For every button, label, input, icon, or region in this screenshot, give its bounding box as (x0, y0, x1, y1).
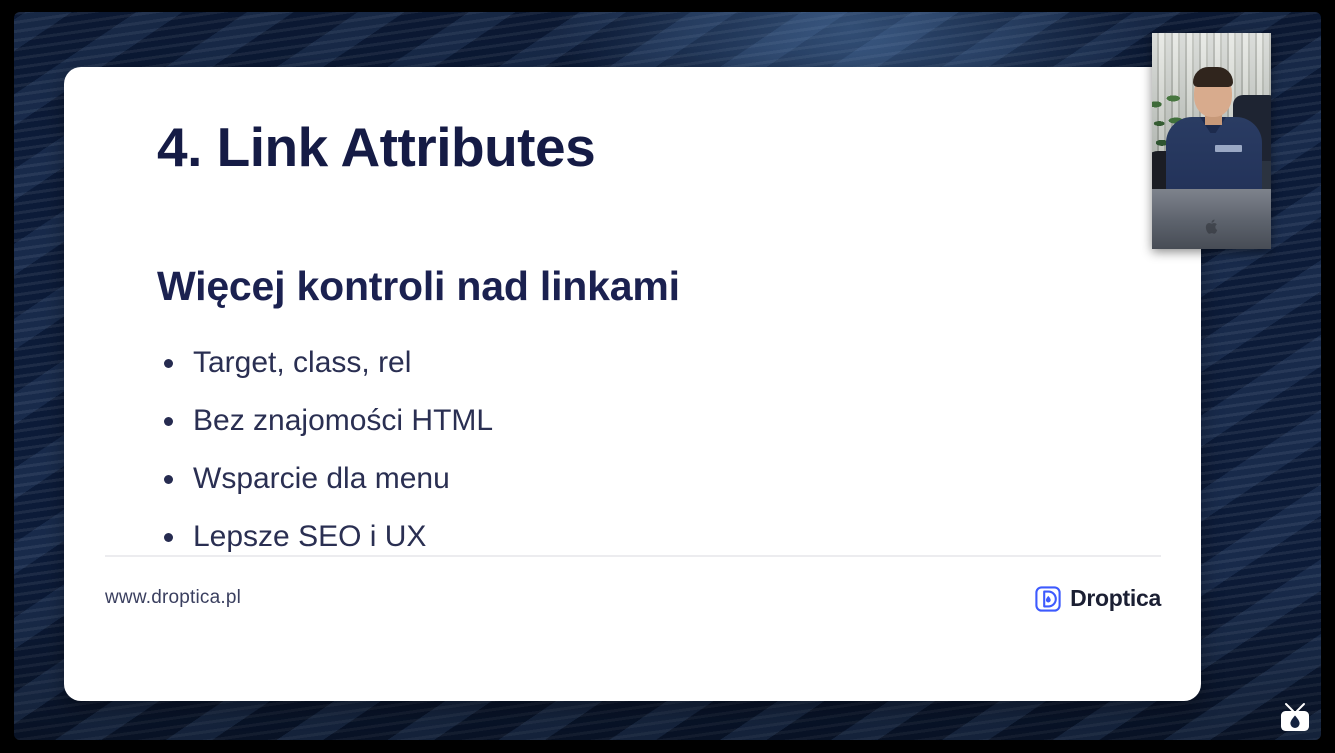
list-item-label: Lepsze SEO i UX (193, 520, 426, 553)
footer-url: www.droptica.pl (105, 587, 241, 609)
apple-logo-icon (1205, 219, 1218, 234)
shirt-droptica-logo-icon (1215, 145, 1242, 152)
slide-stage: 4. Link Attributes Więcej kontroli nad l… (0, 0, 1335, 753)
list-item: Wsparcie dla menu (157, 464, 957, 494)
slide-subtitle: Więcej kontroli nad linkami (157, 263, 680, 310)
list-item-label: Bez znajomości HTML (193, 404, 493, 437)
droptica-logo: Droptica (1035, 585, 1161, 612)
bullet-dot-icon (164, 417, 173, 426)
droptica-wordmark: Droptica (1070, 585, 1161, 612)
presenter-webcam[interactable] (1152, 33, 1271, 249)
bullet-dot-icon (164, 475, 173, 484)
bullet-dot-icon (164, 359, 173, 368)
droptica-drop-icon (1035, 586, 1061, 612)
list-item: Lepsze SEO i UX (157, 522, 957, 552)
droptica-tv-watermark-icon (1277, 701, 1313, 735)
bullet-dot-icon (164, 533, 173, 542)
list-item: Target, class, rel (157, 348, 957, 378)
list-item-label: Target, class, rel (193, 346, 411, 379)
bullet-list: Target, class, rel Bez znajomości HTML W… (157, 348, 957, 580)
list-item-label: Wsparcie dla menu (193, 462, 450, 495)
slide-card: 4. Link Attributes Więcej kontroli nad l… (64, 67, 1201, 701)
slide-title: 4. Link Attributes (157, 115, 595, 179)
presenter-hair (1193, 67, 1233, 87)
list-item: Bez znajomości HTML (157, 406, 957, 436)
footer-divider (105, 555, 1161, 557)
